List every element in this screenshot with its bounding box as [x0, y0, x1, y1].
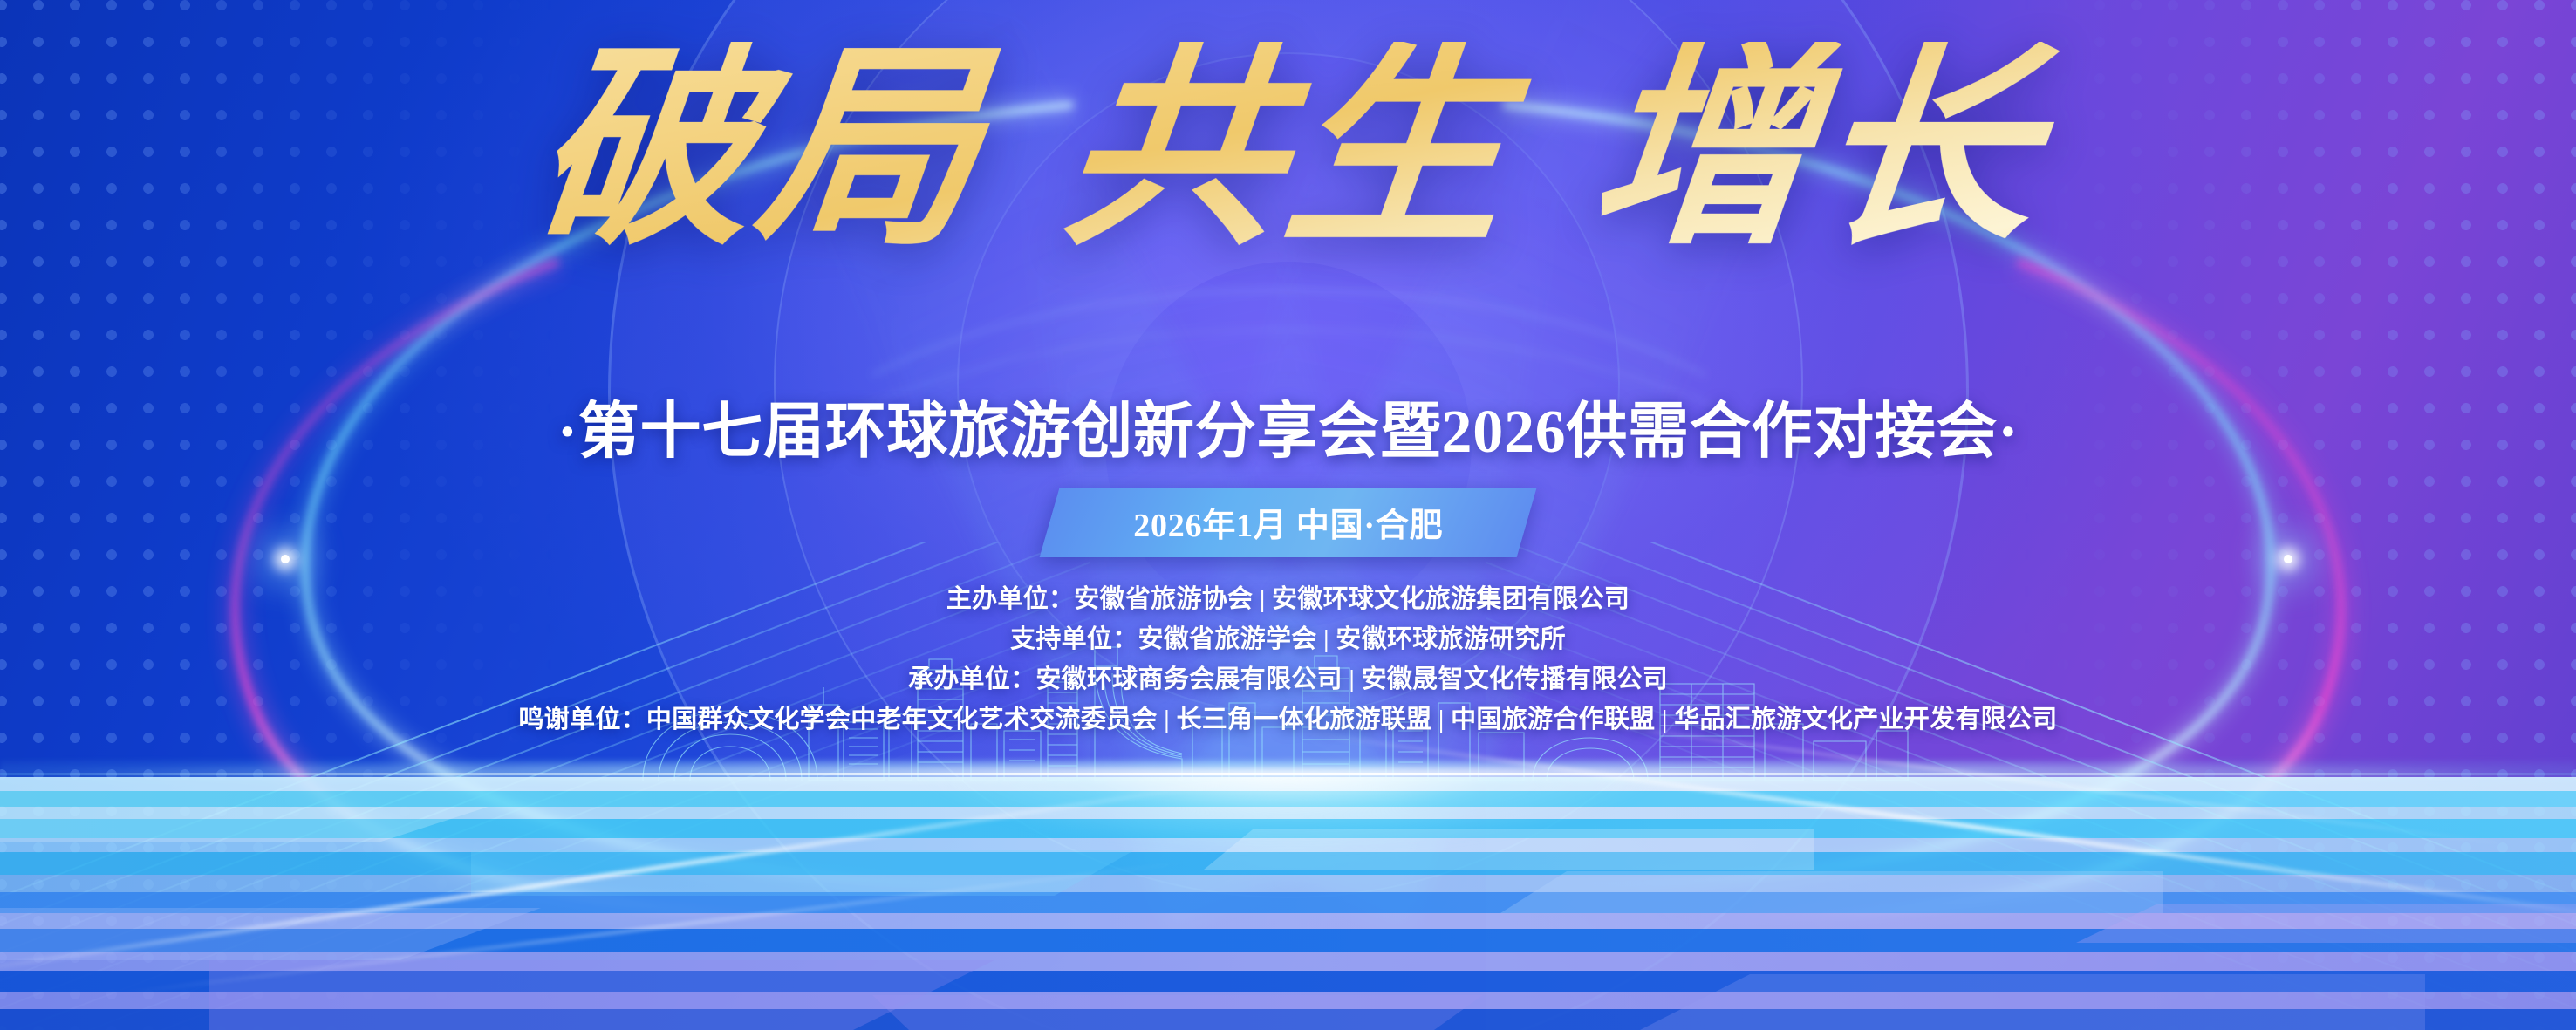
date-location-text: 2026年1月 中国·合肥	[1133, 498, 1443, 546]
poster-content: 破局共生增长 ·第十七届环球旅游创新分享会暨2026供需合作对接会· 2026年…	[0, 0, 2576, 1030]
poster-stage: 破局共生增长 ·第十七届环球旅游创新分享会暨2026供需合作对接会· 2026年…	[0, 0, 2576, 1030]
headline-word-1: 破局	[524, 30, 994, 271]
organizer-line-host: 主办单位：安徽省旅游协会 | 安徽环球文化旅游集团有限公司	[0, 579, 2576, 619]
date-location-badge: 2026年1月 中国·合肥	[1040, 488, 1537, 557]
headline-word-2: 共生	[1053, 30, 1523, 271]
organizer-line-thanks: 鸣谢单位：中国群众文化学会中老年文化艺术交流委员会 | 长三角一体化旅游联盟 |…	[0, 699, 2576, 740]
organizer-line-support: 支持单位：安徽省旅游学会 | 安徽环球旅游研究所	[0, 619, 2576, 659]
poster-headline: 破局共生增长	[0, 42, 2576, 260]
date-badge-wrapper: 2026年1月 中国·合肥	[0, 488, 2576, 557]
headline-word-3: 增长	[1582, 30, 2052, 271]
organizer-list: 主办单位：安徽省旅游协会 | 安徽环球文化旅游集团有限公司 支持单位：安徽省旅游…	[0, 579, 2576, 740]
organizer-line-organizer: 承办单位：安徽环球商务会展有限公司 | 安徽晟智文化传播有限公司	[0, 659, 2576, 699]
poster-subtitle: ·第十七届环球旅游创新分享会暨2026供需合作对接会·	[0, 382, 2576, 470]
